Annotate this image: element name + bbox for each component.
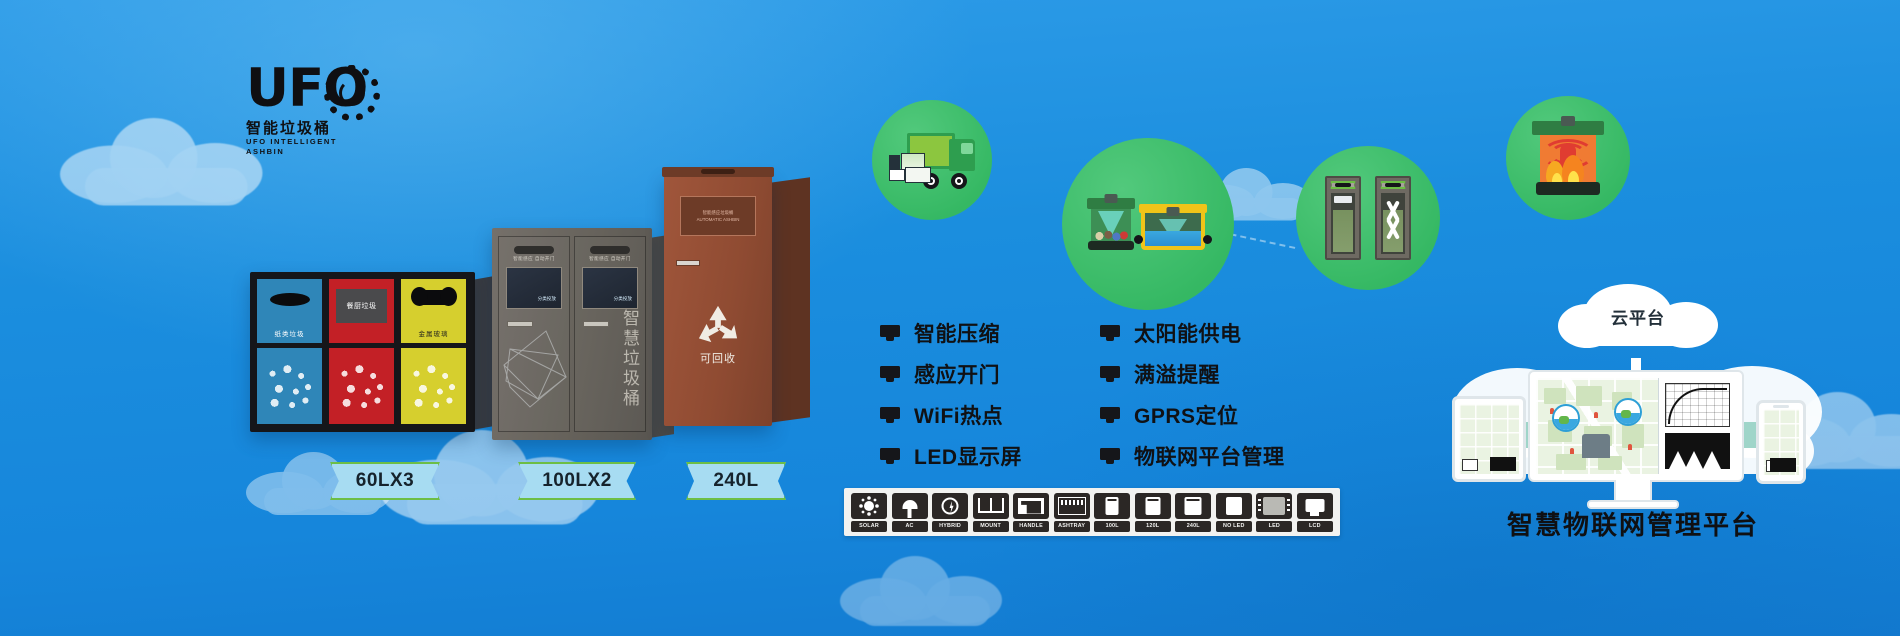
bin-panel-top-text: 智能感应 自动开门 <box>499 256 569 262</box>
blob-slot-icon <box>412 290 456 305</box>
sun-icon <box>851 493 887 519</box>
spec-label: LED <box>1256 521 1292 532</box>
mount-bracket-icon <box>973 493 1009 519</box>
bolt-circle-icon <box>932 493 968 519</box>
plug-icon <box>892 493 928 519</box>
logo-english-name: UFO INTELLIGENT ASHBIN <box>246 137 376 157</box>
feature-item: 满溢提醒 <box>1100 359 1285 389</box>
spec-label: MOUNT <box>973 521 1009 532</box>
green-circle-collection-truck <box>872 100 992 220</box>
bin-vertical-text: 智慧垃圾桶 <box>617 309 639 409</box>
spec-label: SOLAR <box>851 521 887 532</box>
feature-item: WiFi热点 <box>880 400 1022 430</box>
cloud-bubble: 云平台 <box>1558 284 1718 358</box>
capacity-badge-60lx3: 60LX3 <box>330 462 440 500</box>
bin-door-left: 智能感应 自动开门 分类投放 <box>498 236 570 432</box>
spec-item-solar[interactable]: SOLAR <box>851 493 887 532</box>
spec-item-240l[interactable]: 240L <box>1175 493 1211 532</box>
bin-door-right: 智能感应 自动开门 分类投放 智慧垃圾桶 <box>574 236 646 432</box>
feature-column-left: 智能压缩 感应开门 WiFi热点 LED显示屏 <box>880 318 1022 471</box>
line-chart <box>1665 383 1730 427</box>
green-circle-compaction <box>1296 146 1440 290</box>
cloud-platform-illustration: 云平台 <box>1418 300 1848 540</box>
monitor-icon <box>1100 366 1120 382</box>
spec-item-ac[interactable]: AC <box>892 493 928 532</box>
feature-item: 智能压缩 <box>880 318 1022 348</box>
monitor-icon <box>880 366 900 382</box>
bin-screen-text: 智能感应垃圾桶 AUTOMATIC ASHBIN <box>681 197 755 235</box>
monitor-icon <box>1100 407 1120 423</box>
spec-label: ASHTRAY <box>1054 521 1090 532</box>
sensor-strip-icon <box>590 246 630 254</box>
panel-plain-icon <box>1216 493 1252 519</box>
bin-recycling-240l: 智能感应垃圾桶 AUTOMATIC ASHBIN 可回收 <box>664 174 772 426</box>
spec-item-120l[interactable]: 120L <box>1135 493 1171 532</box>
dotted-ring-icon <box>324 65 380 121</box>
spec-label: 240L <box>1175 521 1211 532</box>
polygon-graphic <box>500 329 570 439</box>
monitor-neck <box>1614 480 1652 502</box>
monitor-icon <box>880 407 900 423</box>
feature-label: 智能压缩 <box>914 318 1000 348</box>
compartment-label: 餐厨垃圾 <box>336 289 387 323</box>
compartment-lower <box>329 348 394 424</box>
spec-item-handle[interactable]: HANDLE <box>1013 493 1049 532</box>
waste-pictograms <box>335 358 388 414</box>
rect-slot-icon: 餐厨垃圾 <box>336 289 387 323</box>
bin-compartment-paper: 纸类垃圾 <box>257 279 322 425</box>
monitor-icon <box>1100 448 1120 464</box>
desktop-monitor <box>1530 372 1742 480</box>
compartment-upper: 餐厨垃圾 <box>329 279 394 343</box>
bin-panel-top-text: 智能感应 自动开门 <box>575 256 645 262</box>
feature-item: GPRS定位 <box>1100 400 1285 430</box>
compartment-lower <box>401 348 466 424</box>
compartment-label: 金属玻璃 <box>401 328 466 338</box>
bin-side-panel <box>473 276 493 430</box>
bin-display-screen: 分类投放 <box>582 267 638 309</box>
bin-compartment-kitchen: 餐厨垃圾 <box>329 279 394 425</box>
city-map-view <box>1536 378 1658 474</box>
spec-label: HANDLE <box>1013 521 1049 532</box>
spec-label: NO LED <box>1216 521 1252 532</box>
feature-label: 感应开门 <box>914 359 1000 389</box>
led-panel-icon <box>1256 493 1292 519</box>
logo-chinese-name: 智能垃圾桶 <box>246 120 376 137</box>
bin-body: 智能感应 自动开门 分类投放 智能感应 自动开门 分类投放 智慧垃圾桶 <box>492 228 652 440</box>
spec-item-100l[interactable]: 100L <box>1094 493 1130 532</box>
fire-alarm-icon <box>1538 121 1598 195</box>
bin-display-screen: 分类投放 <box>506 267 562 309</box>
feature-column-right: 太阳能供电 满溢提醒 GPRS定位 物联网平台管理 <box>1100 318 1285 471</box>
lcd-monitor-icon <box>1297 493 1333 519</box>
feature-label: GPRS定位 <box>1134 400 1239 430</box>
area-chart <box>1665 433 1730 469</box>
chart-panel <box>1658 378 1736 474</box>
green-circle-fill-sensor <box>1062 138 1234 310</box>
spec-label: AC <box>892 521 928 532</box>
bin-screen-text: 分类投放 <box>538 296 556 302</box>
feature-label: 物联网平台管理 <box>1134 441 1285 471</box>
compartment-upper: 金属玻璃 <box>401 279 466 343</box>
bin-handle <box>507 321 533 327</box>
compartment-upper: 纸类垃圾 <box>257 279 322 343</box>
bin-smart-twin: 智能感应 自动开门 分类投放 智能感应 自动开门 分类投放 智慧垃圾桶 <box>492 228 652 440</box>
spec-label: HYBRID <box>932 521 968 532</box>
capacity-badge-240l: 240L <box>686 462 786 500</box>
oval-slot-icon <box>270 293 310 306</box>
waste-pictograms <box>263 358 316 414</box>
feature-item: LED显示屏 <box>880 441 1022 471</box>
spec-label: LCD <box>1297 521 1333 532</box>
cloud-platform-label: 云平台 <box>1558 304 1718 329</box>
feature-item: 物联网平台管理 <box>1100 441 1285 471</box>
spec-icon-strip: SOLAR AC HYBRID MOUNT HANDLE ASHTRAY 100… <box>844 488 1340 536</box>
bin-240l-icon <box>1175 493 1211 519</box>
bin-body: 智能感应垃圾桶 AUTOMATIC ASHBIN 可回收 <box>664 174 772 426</box>
spec-item-led[interactable]: LED <box>1256 493 1292 532</box>
bin-120l-icon <box>1135 493 1171 519</box>
monitor-icon <box>880 325 900 341</box>
spec-item-hybrid[interactable]: HYBRID <box>932 493 968 532</box>
bin-screen-text: 分类投放 <box>614 296 632 302</box>
map-thumbnail <box>1763 409 1799 475</box>
feature-label: 满溢提醒 <box>1134 359 1220 389</box>
sensor-strip-icon <box>514 246 554 254</box>
waste-pictograms <box>407 358 460 414</box>
map-thumbnail <box>1459 404 1519 474</box>
bin-recycle-label: 可回收 <box>664 350 772 366</box>
compaction-unit-icon <box>1325 176 1411 260</box>
bin-side-panel <box>770 177 810 423</box>
feature-item: 感应开门 <box>880 359 1022 389</box>
bin-handle <box>583 321 609 327</box>
spec-item-no-led[interactable]: NO LED <box>1216 493 1252 532</box>
capacity-badge-100lx2: 100LX2 <box>518 462 636 500</box>
feature-item: 太阳能供电 <box>1100 318 1285 348</box>
feature-label: WiFi热点 <box>914 400 1003 430</box>
spec-item-lcd[interactable]: LCD <box>1297 493 1333 532</box>
spec-label: 120L <box>1135 521 1171 532</box>
feature-list: 智能压缩 感应开门 WiFi热点 LED显示屏 太阳能供电 满溢提醒 GPRS定… <box>880 318 1285 471</box>
smartphone-device <box>1756 400 1806 484</box>
spec-item-ashtray[interactable]: ASHTRAY <box>1054 493 1090 532</box>
fill-level-sensor-icon <box>1091 198 1205 250</box>
tablet-device <box>1452 396 1526 482</box>
collection-truck-icon <box>889 131 975 189</box>
bin-100l-icon <box>1094 493 1130 519</box>
spec-item-mount[interactable]: MOUNT <box>973 493 1009 532</box>
spec-label: 100L <box>1094 521 1130 532</box>
brand-logo: UFO 智能垃圾桶 UFO INTELLIGENT ASHBIN <box>246 62 376 162</box>
platform-title: 智慧物联网管理平台 <box>1418 505 1848 542</box>
poster-canvas: UFO 智能垃圾桶 UFO INTELLIGENT ASHBIN 纸类垃圾 餐厨… <box>0 0 1900 636</box>
bin-three-compartment: 纸类垃圾 餐厨垃圾 金属玻璃 <box>250 272 475 432</box>
monitor-screen <box>1536 378 1736 474</box>
monitor-icon <box>880 448 900 464</box>
recycle-icon <box>695 304 741 346</box>
feature-label: 太阳能供电 <box>1134 318 1242 348</box>
bin-handle <box>676 260 700 266</box>
bin-display-screen: 智能感应垃圾桶 AUTOMATIC ASHBIN <box>680 196 756 236</box>
compartment-lower <box>257 348 322 424</box>
handle-icon <box>1013 493 1049 519</box>
bin-compartment-metal-glass: 金属玻璃 <box>401 279 466 425</box>
feature-label: LED显示屏 <box>914 441 1022 471</box>
sensor-strip-icon <box>701 169 735 174</box>
ashtray-icon <box>1054 493 1090 519</box>
green-circle-fire-alarm <box>1506 96 1630 220</box>
compartment-label: 纸类垃圾 <box>257 328 322 338</box>
monitor-icon <box>1100 325 1120 341</box>
